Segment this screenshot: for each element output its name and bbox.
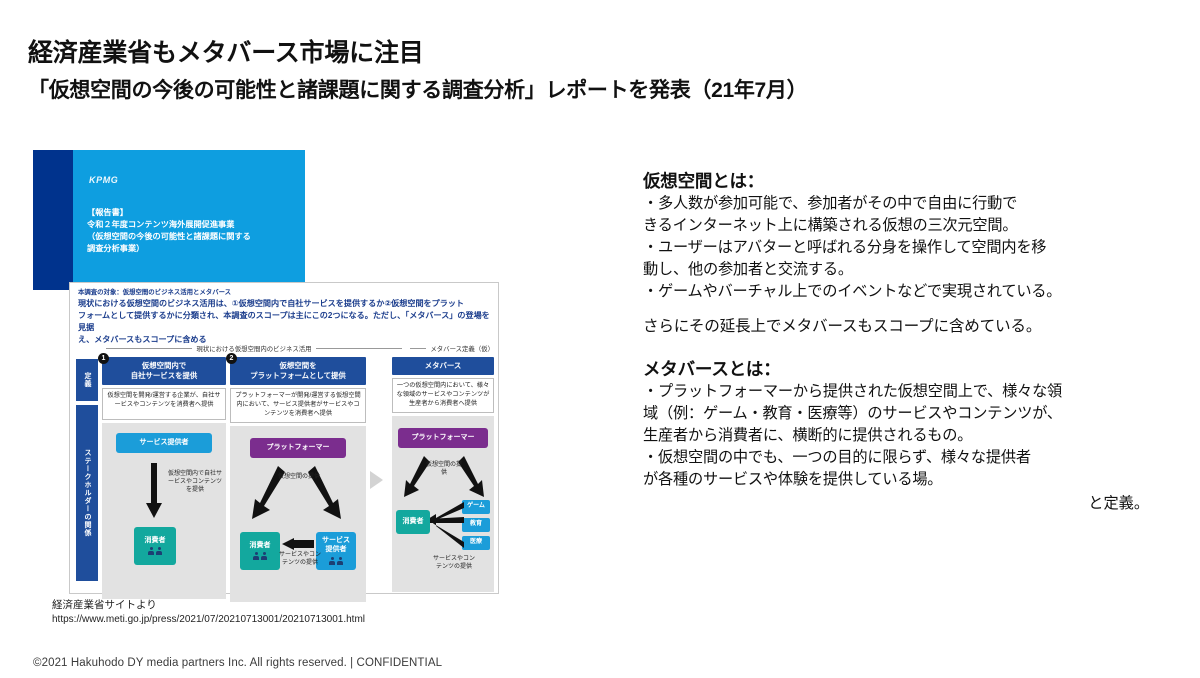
metaverse-line-4: ・仮想空間の中でも、一つの目的に限らず、様々な提供者 [643,447,1163,469]
column-3-tag-game: ゲーム [462,500,490,514]
column-2-stage: プラットフォーマー 仮想空間の提供 消費者 [230,426,366,602]
column-1-number: 1 [98,353,109,364]
column-1-node-consumer: 消費者 [134,527,176,565]
column-2-annotation-space: 仮想空間の提供 [274,474,324,482]
column-3-node-consumer: 消費者 [396,510,430,534]
column-3-annotation-space: 仮想空間の提供 [426,462,462,478]
rail-line-left-2 [410,348,426,349]
cover-line-2: 令和２年度コンテンツ海外展開促進事業 [87,219,299,231]
rail-label-metaverse: メタバース定義（仮） [410,343,494,353]
column-1-arrow-down-icon [146,463,162,519]
column-2-consumer-label: 消費者 [250,542,271,551]
virtual-space-line-4: 動し、他の参加者と交流する。 [643,259,1163,281]
scope-diagram: 本調査の対象：仮想空間のビジネス活用とメタバース 現状における仮想空間のビジネス… [69,282,499,594]
spacer-2 [643,339,1163,356]
diagram-lead-2: フォームとして提供するかに分類され、本調査のスコープは主にこの2つになる。ただし… [78,310,490,332]
column-2-provider-people-icon [329,557,343,565]
column-separator-triangle-icon [370,471,383,489]
column-3-stage: プラットフォーマー 仮想空間の提供 ゲーム 教育 医療 [392,416,494,592]
column-2-title-line1: 仮想空間を [232,361,364,371]
rail-line-right [316,348,402,349]
column-1-annotation: 仮想空間内で自社サービスやコンテンツを提供 [168,471,222,494]
column-1-title: 1 仮想空間内で 自社サービスを提供 [102,357,226,385]
row-label-definition: 定義 [76,359,98,401]
column-2-node-provider: サービス 提供者 [316,532,356,570]
column-3-tag-medical: 医療 [462,536,490,550]
metaverse-line-2: 域（例：ゲーム・教育・医療等）のサービスやコンテンツが、 [643,403,1163,425]
virtual-space-body: ・多人数が参加可能で、参加者がその中で自由に行動で きるインターネット上に構築さ… [643,193,1163,302]
metaverse-line-5: が各種のサービスや体験を提供している場。 [643,469,1163,491]
cover-side-band [33,150,73,290]
metaverse-line-3: 生産者から消費者に、横断的に提供されるもの。 [643,425,1163,447]
column-2-annotation-service: サービスやコンテンツの提供 [278,552,322,568]
virtual-space-line-5: ・ゲームやバーチャル上でのイベントなどで実現されている。 [643,281,1163,303]
column-2-provider-line1: サービス [322,537,350,546]
column-1-consumer-label: 消費者 [145,537,166,546]
source-caption: 経済産業省サイトより https://www.meti.go.jp/press/… [52,598,365,628]
caption-url[interactable]: https://www.meti.go.jp/press/2021/07/202… [52,613,365,628]
column-3-description: 一つの仮想空間内において、様々な領域のサービスやコンテンツが生産者から消費者へ提… [392,378,494,413]
column-3-converging-arrows-icon [428,498,464,552]
cover-title-block: 【報告書】 令和２年度コンテンツ海外展開促進事業 （仮想空間の今後の可能性と諸課… [87,207,299,255]
footer-copyright: ©2021 Hakuhodo DY media partners Inc. Al… [33,657,442,669]
column-2-arrow-left-icon [282,538,314,550]
rail-line-left [106,348,192,349]
column-2-number: 2 [226,353,237,364]
column-2-node-consumer: 消費者 [240,532,280,570]
caption-line-1: 経済産業省サイトより [52,598,365,613]
column-3-tag-education: 教育 [462,518,490,532]
column-2-node-platformer: プラットフォーマー [250,438,346,458]
metaverse-line-1: ・プラットフォーマーから提供された仮想空間上で、様々な領 [643,381,1163,403]
rail-text-metaverse: メタバース定義（仮） [430,344,494,353]
virtual-space-line-3: ・ユーザーはアバターと呼ばれる分身を操作して空間内を移 [643,237,1163,259]
kpmg-logo: KPMG [89,175,118,185]
column-3-title: メタバース [392,357,494,375]
diagram-column-1: 1 仮想空間内で 自社サービスを提供 仮想空間を開発/運営する企業が、自社サービ… [102,357,226,599]
diagram-column-3: メタバース 一つの仮想空間内において、様々な領域のサービスやコンテンツが生産者か… [392,357,494,592]
diagram-header: 本調査の対象：仮想空間のビジネス活用とメタバース 現状における仮想空間のビジネス… [78,289,490,345]
cover-line-4: 調査分析事業） [87,243,299,255]
column-2-provider-line2: 提供者 [326,546,347,555]
column-1-description: 仮想空間を開発/運営する企業が、自社サービスやコンテンツを消費者へ提供 [102,388,226,420]
cover-line-3: （仮想空間の今後の可能性と諸課題に関する [87,231,299,243]
cover-line-1: 【報告書】 [87,207,299,219]
column-2-title: 2 仮想空間を プラットフォームとして提供 [230,357,366,385]
diagram-column-2: 2 仮想空間を プラットフォームとして提供 プラットフォーマーが開発/運営する仮… [230,357,366,602]
virtual-space-line-1: ・多人数が参加可能で、参加者がその中で自由に行動で [643,193,1163,215]
row-label-stakeholder: ステークホルダーの関係 [76,405,98,581]
right-text-panel: 仮想空間とは： ・多人数が参加可能で、参加者がその中で自由に行動で きるインター… [643,168,1163,513]
rail-label-current: 現状における仮想空間内のビジネス活用 [106,343,402,353]
report-screenshot: KPMG 【報告書】 令和２年度コンテンツ海外展開促進事業 （仮想空間の今後の可… [33,150,499,594]
virtual-space-line-2: きるインターネット上に構築される仮想の三次元空間。 [643,215,1163,237]
virtual-space-heading: 仮想空間とは： [643,168,1163,193]
column-3-node-platformer: プラットフォーマー [398,428,488,448]
scope-note: さらにその延長上でメタバースもスコープに含めている。 [643,316,1163,339]
slide-root: 経済産業省もメタバース市場に注目 「仮想空間の今後の可能性と諸課題に関する調査分… [0,0,1200,678]
column-1-node-provider: サービス提供者 [116,433,212,453]
metaverse-body: ・プラットフォーマーから提供された仮想空間上で、様々な領 域（例：ゲーム・教育・… [643,381,1163,490]
column-2-people-icon [253,552,267,560]
column-1-title-line2: 自社サービスを提供 [104,371,224,381]
rail-text-current: 現状における仮想空間内のビジネス活用 [196,344,311,353]
diagram-heading: 本調査の対象：仮想空間のビジネス活用とメタバース [78,289,490,297]
column-2-title-line2: プラットフォームとして提供 [232,371,364,381]
column-1-title-line1: 仮想空間内で [104,361,224,371]
report-cover-page: KPMG 【報告書】 令和２年度コンテンツ海外展開促進事業 （仮想空間の今後の可… [33,150,305,290]
column-1-stage: サービス提供者 仮想空間内で自社サービスやコンテンツを提供 消費者 [102,423,226,599]
column-3-title-line1: メタバース [394,361,492,371]
diagram-lead-1: 現状における仮想空間のビジネス活用は、①仮想空間内で自社サービスを提供するか②仮… [78,298,490,309]
page-title: 経済産業省もメタバース市場に注目 [28,33,424,69]
page-subtitle: 「仮想空間の今後の可能性と諸課題に関する調査分析」レポートを発表（21年7月） [28,74,807,104]
column-1-people-icon [148,547,162,555]
spacer-1 [643,302,1163,316]
definition-closing: と定義。 [643,491,1163,513]
column-2-description: プラットフォーマーが開発/運営する仮想空間内において、サービス提供者がサービスや… [230,388,366,423]
column-3-annotation-service: サービスやコンテンツの提供 [432,556,476,572]
metaverse-heading: メタバースとは： [643,356,1163,381]
